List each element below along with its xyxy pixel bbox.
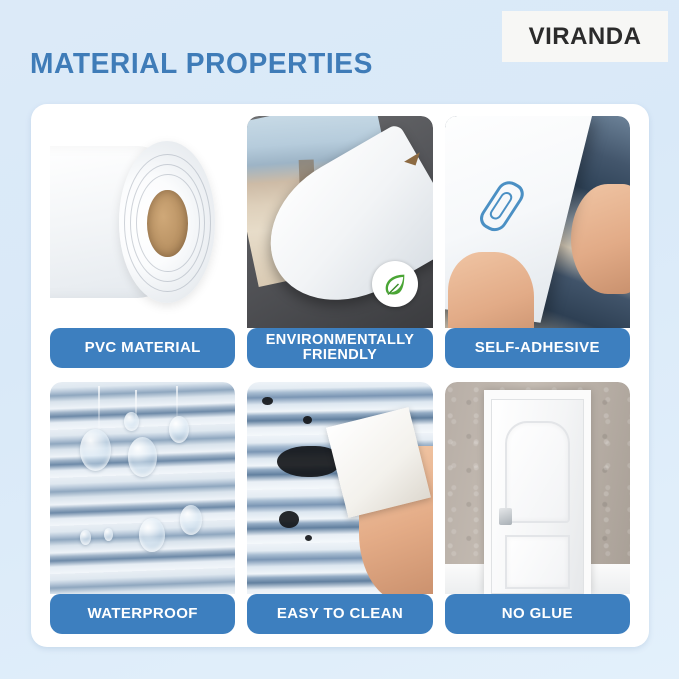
feature-label-waterproof: WATERPROOF xyxy=(50,594,235,634)
water-drop xyxy=(80,429,112,471)
feature-tile-waterproof[interactable]: WATERPROOF xyxy=(50,382,235,634)
eco-badge xyxy=(372,261,418,307)
feature-tile-pvc-material[interactable]: PVC MATERIAL xyxy=(50,116,235,368)
infographic-page: VIRANDA MATERIAL PROPERTIES PVC MATERIAL xyxy=(0,0,679,679)
feature-label-self-adhesive: SELF-ADHESIVE xyxy=(445,328,630,368)
waterproof-image xyxy=(50,382,235,594)
feature-tile-easy-to-clean[interactable]: EASY TO CLEAN xyxy=(247,382,432,634)
feature-tile-no-glue[interactable]: NO GLUE xyxy=(445,382,630,634)
stain-mark xyxy=(305,535,312,541)
door-slab-shape xyxy=(491,399,583,594)
water-drop xyxy=(169,416,189,444)
feature-card: PVC MATERIAL ENVIRONMENTALLYFRIENDLY xyxy=(31,104,649,647)
water-drop xyxy=(80,530,91,545)
brand-logo-box: VIRANDA xyxy=(502,11,668,62)
easy-to-clean-image xyxy=(247,382,432,594)
water-drop xyxy=(128,437,158,477)
pvc-roll-shape xyxy=(119,141,215,302)
leaf-icon xyxy=(381,270,409,298)
no-glue-image xyxy=(445,382,630,594)
eco-roll-image xyxy=(247,116,432,328)
water-drop xyxy=(104,528,113,541)
pvc-core-shape xyxy=(147,190,187,258)
stain-mark xyxy=(277,446,340,478)
door-panel-top xyxy=(505,421,570,523)
stain-mark xyxy=(262,397,273,405)
paperclip-icon xyxy=(475,178,528,236)
stain-mark xyxy=(303,416,312,424)
door-handle-shape xyxy=(499,508,512,525)
stain-mark xyxy=(279,511,299,528)
feature-tile-environmentally-friendly[interactable]: ENVIRONMENTALLYFRIENDLY xyxy=(247,116,432,368)
pvc-roll-image xyxy=(50,116,235,328)
door-frame-shape xyxy=(484,390,591,594)
feature-label-easy-to-clean: EASY TO CLEAN xyxy=(247,594,432,634)
self-adhesive-image xyxy=(445,116,630,328)
feature-label-environmentally-friendly: ENVIRONMENTALLYFRIENDLY xyxy=(247,328,432,368)
brand-name: VIRANDA xyxy=(529,23,642,51)
door-panel-bottom xyxy=(505,535,570,589)
cleaning-cloth-shape xyxy=(326,407,431,518)
water-drop xyxy=(124,412,139,431)
feature-grid: PVC MATERIAL ENVIRONMENTALLYFRIENDLY xyxy=(50,116,630,634)
page-title: MATERIAL PROPERTIES xyxy=(30,48,373,81)
hand-shape xyxy=(448,252,533,328)
feature-label-no-glue: NO GLUE xyxy=(445,594,630,634)
water-drop xyxy=(180,505,202,535)
water-drop xyxy=(139,518,165,552)
feature-label-pvc-material: PVC MATERIAL xyxy=(50,328,235,368)
feature-tile-self-adhesive[interactable]: SELF-ADHESIVE xyxy=(445,116,630,368)
